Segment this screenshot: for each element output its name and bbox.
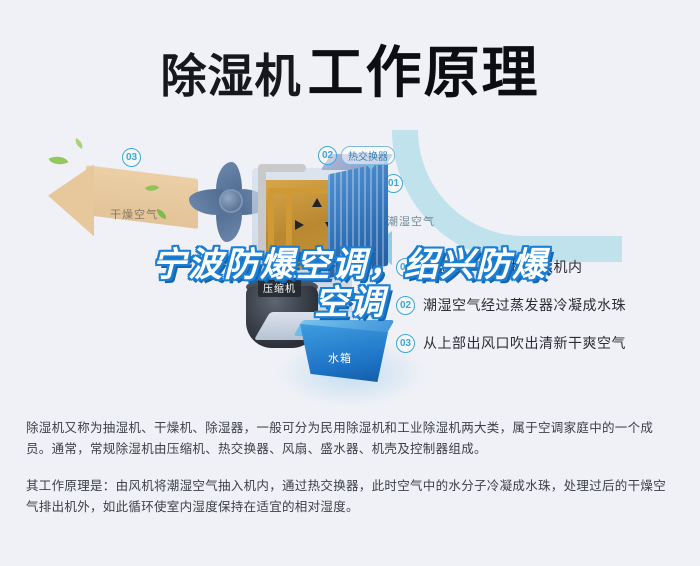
poster-root: 除湿机工作原理 干燥空气 03 潮湿空气 01 <box>0 0 700 566</box>
page-title-secondary: 工作原理 <box>308 41 540 104</box>
legend-text-02: 潮湿空气经过蒸发器冷凝成水珠 <box>423 295 626 315</box>
refrigerant-pipe <box>258 164 266 290</box>
page-title: 除湿机工作原理 <box>0 28 700 109</box>
compressor-label: 压缩机 <box>258 278 301 297</box>
refrigerant-pipe <box>286 188 292 258</box>
legend-item: 02 潮湿空气经过蒸发器冷凝成水珠 <box>396 286 692 324</box>
heat-exchanger-callout: 02 热交换器 <box>318 146 395 165</box>
legend-text-01: 潮湿空气由风机抽入机内 <box>423 257 583 277</box>
heat-exchanger-block <box>328 162 388 279</box>
refrigerant-pipe <box>268 188 328 194</box>
moist-air-label: 潮湿空气 <box>387 213 435 229</box>
legend-text-03: 从上部出风口吹出清新干爽空气 <box>423 333 626 353</box>
moist-air-arrow-icon <box>392 130 622 262</box>
refrigerant-pipe <box>258 164 306 172</box>
legend-list: 01 潮湿空气由风机抽入机内 02 潮湿空气经过蒸发器冷凝成水珠 03 从上部出… <box>396 248 692 362</box>
badge-03-dry-air: 03 <box>122 148 141 167</box>
description-paragraph-1: 除湿机又称为抽湿机、干燥机、除湿器，一般可分为民用除湿机和工业除湿机两大类，属于… <box>26 418 676 460</box>
dry-air-arrow-head <box>48 160 94 237</box>
dry-air-label: 干燥空气 <box>110 206 158 222</box>
leaf-icon <box>73 138 85 149</box>
heat-exchanger-callout-label: 热交换器 <box>341 146 395 165</box>
legend-item: 01 潮湿空气由风机抽入机内 <box>396 248 692 286</box>
legend-badge-02: 02 <box>396 296 415 315</box>
badge-02-heat-exchanger: 02 <box>318 146 337 165</box>
legend-item: 03 从上部出风口吹出清新干爽空气 <box>396 324 692 362</box>
flow-arrow-up-icon <box>312 198 322 207</box>
refrigerant-pipe <box>268 188 274 258</box>
dry-air-arrow-icon <box>48 158 198 236</box>
description-block: 除湿机又称为抽湿机、干燥机、除湿器，一般可分为民用除湿机和工业除湿机两大类，属于… <box>26 418 676 518</box>
legend-badge-01: 01 <box>396 258 415 277</box>
page-title-primary: 除湿机 <box>161 50 302 102</box>
description-paragraph-2: 其工作原理是：由风机将潮湿空气抽入机内，通过热交换器，此时空气中的水分子冷凝成水… <box>26 476 676 518</box>
fan-hub <box>219 189 243 213</box>
refrigerant-pipe <box>268 254 328 260</box>
water-tank-label: 水箱 <box>328 350 352 366</box>
flow-arrow-right-icon <box>295 220 304 230</box>
legend-badge-03: 03 <box>396 334 415 353</box>
